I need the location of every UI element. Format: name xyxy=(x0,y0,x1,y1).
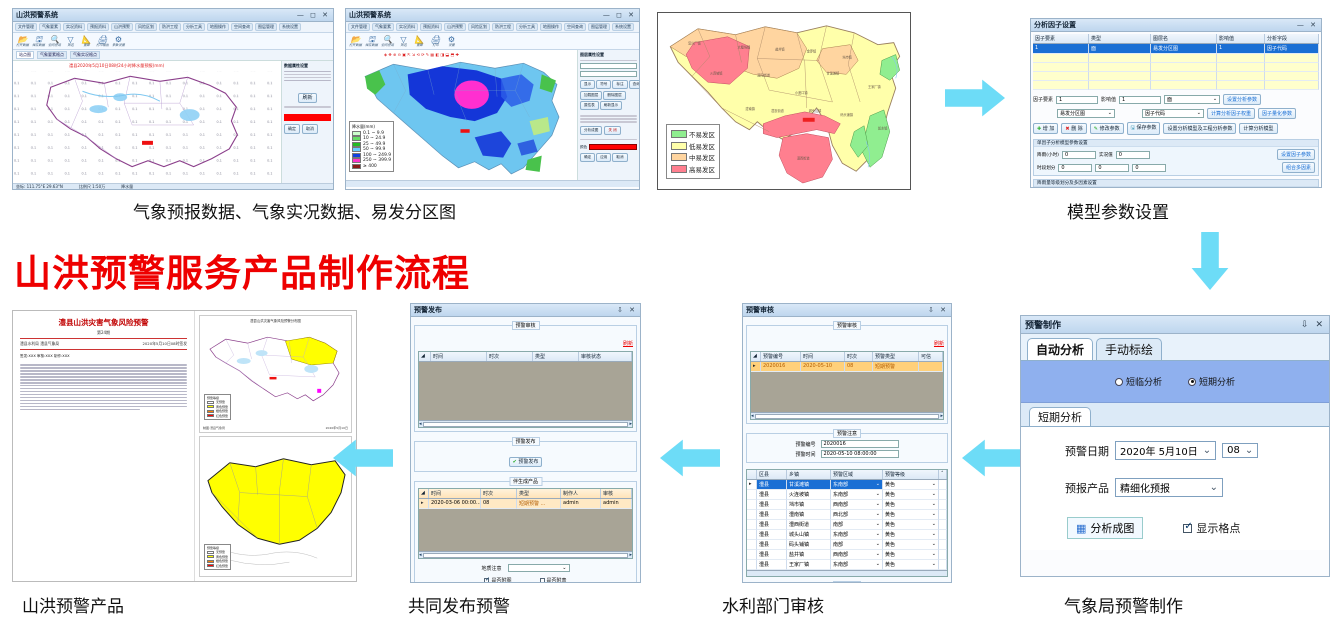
publish-grid-header: ◢ 时间 时次 类型 审核状态 xyxy=(419,352,632,362)
svg-text:甘溪滩镇: 甘溪滩镇 xyxy=(827,70,840,75)
label-factor: 因子要素 xyxy=(1033,96,1053,103)
panel-make-warning[interactable]: 预警制作 ⇩ ✕ 自动分析 手动标绘 短临分析 短期分析 短期分析 预警日期 2… xyxy=(1020,315,1330,577)
ok-button[interactable]: 确定 xyxy=(580,153,595,162)
chevron-down-icon: ⌄ xyxy=(876,521,880,528)
menu-item[interactable]: 风险区划 xyxy=(135,23,157,31)
cell-area[interactable]: 东南部⌄ xyxy=(831,560,883,570)
menu-item[interactable]: 文件管理 xyxy=(15,23,37,31)
chevron-down-icon: ⌄ xyxy=(932,541,936,548)
legend-item: 250 ~ 399.9 xyxy=(352,158,391,163)
tab-element-grid[interactable]: 气象要素格点 xyxy=(37,51,67,59)
rain-window-titlebar: 山洪预警系统 — ◻ ✕ xyxy=(346,9,639,22)
menu-item[interactable]: 分析工具 xyxy=(516,23,538,31)
menu-item[interactable]: 山洪预警 xyxy=(111,23,133,31)
cell-town: 盐井镇 xyxy=(787,550,831,560)
check-icon: ✔ xyxy=(513,459,517,465)
select-note[interactable]: ⌄ xyxy=(508,564,570,572)
row-selector[interactable]: ◢ xyxy=(751,352,761,361)
print-icon[interactable]: 🖨打印 xyxy=(429,35,442,47)
cell-county: 澧县 xyxy=(757,480,787,490)
zoning-legend: 不易发区 低易发区 中易发区 高易发区 xyxy=(666,124,720,180)
horizontal-scrollbar[interactable]: ◂ ▸ xyxy=(419,420,632,427)
arrow-to-review xyxy=(962,438,1022,478)
cell-area[interactable]: 东南部⌄ xyxy=(831,490,883,500)
svg-text:小渡口镇: 小渡口镇 xyxy=(795,90,808,95)
minus-icon: ✖ xyxy=(1065,126,1069,132)
chevron-down-icon: ⌄ xyxy=(876,481,880,488)
row-marker xyxy=(747,540,757,550)
settings-icon[interactable]: ⚙参数设置 xyxy=(112,35,125,47)
legend-item: 黄色预警 xyxy=(207,405,228,409)
input-warn-date[interactable]: 2020年 5月10日 ⌄ xyxy=(1115,441,1216,460)
svg-text:盐井镇: 盐井镇 xyxy=(775,47,785,52)
chevron-down-icon: ⌄ xyxy=(1203,445,1211,456)
chevron-down-icon: ⌄ xyxy=(932,521,936,528)
doc-meta-left: 澧县水利局 澧县气象局 xyxy=(20,341,59,347)
legend-item: 50 ~ 99.9 xyxy=(352,147,391,152)
cell-level[interactable]: 黄色⌄ xyxy=(883,490,939,500)
input-aux[interactable]: 0 xyxy=(1095,164,1129,172)
params-window-title: 分析因子设置 xyxy=(1034,20,1076,30)
spatial-query-icon[interactable]: 🔍空间查询 xyxy=(381,35,394,47)
panel-water-review[interactable]: 预警审核 ⇩ ✕ 预警审核 刷新 ◢ 预警编号 时间 时次 预警类型 可信 ▸ … xyxy=(742,303,952,583)
input-time-no[interactable]: 0 xyxy=(1058,164,1092,172)
save-params-button[interactable]: 🖫 保存参数 xyxy=(1127,122,1161,135)
review-titlebar: 预警审核 ⇩ ✕ xyxy=(743,304,951,317)
analyze-map-button[interactable]: ▦ 分析成图 xyxy=(1067,517,1143,539)
cell-time: 2020-03-06 00:00... xyxy=(429,499,481,509)
cell-county: 澧县 xyxy=(757,520,787,530)
rain-menubar[interactable]: 文件管理 气象要素 实况资料 预报资料 山洪预警 风险区划 防洪工程 分析工具 … xyxy=(346,22,639,33)
menu-item[interactable]: 系统设置 xyxy=(612,23,634,31)
cell-level[interactable]: 黄色⌄ xyxy=(883,520,939,530)
cell-level[interactable]: 黄色⌄ xyxy=(883,510,939,520)
cell-warn-id: 2020016 xyxy=(761,362,801,372)
menu-item[interactable]: 防洪工程 xyxy=(492,23,514,31)
cell-area[interactable]: 东南部⌄ xyxy=(831,480,883,490)
cell-area[interactable]: 西南部⌄ xyxy=(831,550,883,560)
col-town: 乡镇 xyxy=(787,470,831,479)
rainfall-map[interactable]: ◈ ✥ ⊕ ⊖ ▣ ⇱ ⇲ ⟲ ⟳ ✎ ▦ ◧ ◨ ⬓ ⬒ ✚ xyxy=(346,50,577,180)
row-marker: ▸ xyxy=(747,480,757,490)
row-spacer xyxy=(939,500,947,510)
table-row[interactable]: 澧县火连坡镇东南部⌄黄色⌄ xyxy=(747,490,947,500)
rainfall-legend: 降水量(mm) 0.1 ~ 9.9 10 ~ 24.9 25 ~ 49.9 50… xyxy=(349,121,394,173)
subtab-short-term[interactable]: 短期分析 xyxy=(1029,407,1091,426)
menu-item[interactable]: 气象要素 xyxy=(372,23,394,31)
cell-effect: 1 xyxy=(1217,44,1265,54)
modify-params-button[interactable]: ✎ 修改参数 xyxy=(1090,123,1124,134)
analyze-button[interactable]: 分析成图 xyxy=(580,126,602,135)
set-model-button[interactable]: 设置分析模型及工程分析参数 xyxy=(1163,123,1236,134)
side-button[interactable]: 删除图层 xyxy=(603,91,625,100)
input-warn-id[interactable]: 2020016 xyxy=(821,440,899,448)
label-forecast-product: 预报产品 xyxy=(1065,480,1109,496)
plus-icon: ✚ xyxy=(1037,126,1041,132)
radio-short-imminent[interactable]: 短临分析 xyxy=(1115,375,1162,388)
input-effect[interactable]: 1 xyxy=(1119,96,1161,104)
scroll-up-arrow[interactable]: ˄ xyxy=(939,470,947,479)
table-row[interactable] xyxy=(1033,72,1319,81)
rain-window-title: 山洪预警系统 xyxy=(349,10,391,20)
col-time: 时间 xyxy=(429,489,481,498)
product-map-lower[interactable]: 预警等级 无预警 黄色预警 橙色预警 红色预警 xyxy=(199,436,352,577)
chevron-down-icon: ⌄ xyxy=(876,501,880,508)
open-data-icon[interactable]: 📂打开数据 xyxy=(349,35,362,47)
window-controls[interactable]: — ✕ xyxy=(1297,21,1318,29)
refresh-link[interactable]: 刷新 xyxy=(934,341,944,347)
menu-item[interactable]: 地图操作 xyxy=(540,23,562,31)
rain-statusbar xyxy=(346,180,639,187)
legend-title: 预警等级 xyxy=(207,546,228,550)
menu-item[interactable]: 山洪预警 xyxy=(444,23,466,31)
makewarn-window-title: 预警制作 xyxy=(1025,318,1061,331)
color-swatch[interactable] xyxy=(284,114,331,121)
cell-area[interactable]: 西北部⌄ xyxy=(831,510,883,520)
col-warn-id: 预警编号 xyxy=(761,352,801,361)
cell-author: admin xyxy=(561,499,601,509)
col-level: 预警等级 xyxy=(883,470,939,479)
menu-item[interactable]: 空间查询 xyxy=(231,23,253,31)
cell-factor: 1 xyxy=(1033,44,1089,54)
cell-county: 澧县 xyxy=(757,550,787,560)
legend-item: 橙色预警 xyxy=(207,409,228,413)
legend-item: 0.1 ~ 9.9 xyxy=(352,131,391,136)
table-row[interactable]: 澧县澧西街道南部⌄黄色⌄ xyxy=(747,520,947,530)
radio-short-term[interactable]: 短期分析 xyxy=(1188,375,1235,388)
cancel-button[interactable]: 取消 xyxy=(612,153,627,162)
checkbox-attach-map[interactable]: 是否附图 xyxy=(484,577,511,583)
table-row[interactable] xyxy=(1033,63,1319,72)
col-review: 审核 xyxy=(601,489,632,498)
menu-item[interactable]: 图层管理 xyxy=(588,23,610,31)
input-actual[interactable]: 0 xyxy=(1116,151,1150,159)
measure-icon[interactable]: 📐量算 xyxy=(413,35,426,47)
layer-select-a[interactable] xyxy=(580,63,637,69)
pin-icon: ⇩ xyxy=(1301,320,1311,330)
save-data-icon[interactable]: 🖫保存数据 xyxy=(365,35,378,47)
row-selector[interactable]: ◢ xyxy=(419,352,431,361)
print-icon[interactable]: 🖨打印输出 xyxy=(96,35,109,47)
township-rows[interactable]: ▸澧县甘溪滩镇东南部⌄黄色⌄澧县火连坡镇东南部⌄黄色⌄澧县垱市镇西南部⌄黄色⌄澧… xyxy=(747,480,947,570)
chevron-down-icon: ⌄ xyxy=(876,541,880,548)
legend-item: 100 ~ 249.9 xyxy=(352,153,391,158)
cell-area[interactable]: 西南部⌄ xyxy=(831,500,883,510)
col-hour: 时次 xyxy=(481,489,517,498)
cell-level[interactable]: 黄色⌄ xyxy=(883,540,939,550)
table-row[interactable]: 澧县澧南镇西北部⌄黄色⌄ xyxy=(747,510,947,520)
close-icon: ✕ xyxy=(629,306,637,314)
panel-zoning-map[interactable]: 复兴厂镇大堰垱镇 盐井镇金罗镇 垱市镇火连坡镇 澧阳街道甘溪滩镇 王家厂镇小渡口… xyxy=(657,12,911,190)
cell-area[interactable]: 南部⌄ xyxy=(831,520,883,530)
chevron-down-icon: ⌄ xyxy=(876,551,880,558)
cell-type: 面 xyxy=(1089,44,1151,54)
close-icon: ✕ xyxy=(940,306,948,314)
col-time: 时间 xyxy=(431,352,487,361)
svg-text:垱市镇: 垱市镇 xyxy=(842,54,852,59)
legend-item: 低易发区 xyxy=(671,141,715,151)
close-icon: ✕ xyxy=(1315,320,1325,330)
row-selector[interactable]: ◢ xyxy=(419,489,429,498)
table-row[interactable]: 1 面 易发分区图 1 因子代码 xyxy=(1033,44,1319,54)
col-county: 区县 xyxy=(757,470,787,479)
calc-weight-button[interactable]: 计算分析因子权重 xyxy=(1207,108,1255,119)
set-analysis-params-button[interactable]: 设置分析参数 xyxy=(1223,94,1261,105)
products-grid-body[interactable] xyxy=(419,509,632,551)
cell-time: 2020-05-10 xyxy=(801,362,845,372)
input-factor[interactable]: 1 xyxy=(1056,96,1098,104)
product-map-title: 澧县山洪灾害气象风险预警分布图 xyxy=(200,318,351,323)
close-button[interactable]: 关 闭 xyxy=(604,126,620,135)
tab-manual-plot[interactable]: 手动标绘 xyxy=(1096,338,1162,360)
calc-model-button[interactable]: 计算分析模型 xyxy=(1239,123,1277,134)
table-row[interactable]: ▸澧县甘溪滩镇东南部⌄黄色⌄ xyxy=(747,480,947,490)
combine-factors-button[interactable]: 组合多因素 xyxy=(1282,162,1315,173)
input-rain-no[interactable]: 0 xyxy=(1062,151,1096,159)
input-warn-time[interactable]: 2020-05-10 08:00:00 xyxy=(821,450,899,458)
svg-text:澧西街道: 澧西街道 xyxy=(797,155,810,160)
select-warn-hour[interactable]: 08 ⌄ xyxy=(1222,443,1258,458)
edit-icon: ✎ xyxy=(1094,126,1098,132)
side-btn-a[interactable]: 确定 xyxy=(284,124,300,134)
select-type[interactable]: 面⌄ xyxy=(1164,95,1220,104)
makewarn-titlebar: 预警制作 ⇩ ✕ xyxy=(1021,316,1329,334)
select-field[interactable]: 因子代码⌄ xyxy=(1142,109,1204,118)
table-row[interactable]: ▸ 2020-03-06 00:00... 08 短期预警 ... admin … xyxy=(419,499,632,509)
cell-area[interactable]: 南部⌄ xyxy=(831,540,883,550)
table-row[interactable]: 澧县王家厂镇东南部⌄黄色⌄ xyxy=(747,560,947,570)
pin-icon: ⇩ xyxy=(928,306,936,314)
review-window-title: 预警审核 xyxy=(746,305,774,315)
forecast-menubar[interactable]: 文件管理 气象要素 实况资料 预报资料 山洪预警 风险区划 防洪工程 分析工具 … xyxy=(13,22,333,33)
menu-item[interactable]: 文件管理 xyxy=(348,23,370,31)
publish-grid-body[interactable] xyxy=(419,362,632,420)
doc-note: 签发:XXX 审核:XXX 制作:XXX xyxy=(20,354,187,359)
col-hour: 时次 xyxy=(845,352,873,361)
cell-level[interactable]: 黄色⌄ xyxy=(883,560,939,570)
chevron-down-icon: ⌄ xyxy=(932,501,936,508)
section-review-title: 预警审核 xyxy=(511,321,539,330)
chevron-down-icon: ⌄ xyxy=(932,531,936,538)
measure-icon[interactable]: 📐量算 xyxy=(80,35,93,47)
menu-item[interactable]: 系统设置 xyxy=(279,23,301,31)
refresh-button[interactable]: 刷新 xyxy=(298,93,316,103)
publish-warning-button[interactable]: ✔ 预警发布 xyxy=(509,457,543,467)
svg-text:大堰垱镇: 大堰垱镇 xyxy=(738,45,751,50)
row-marker xyxy=(747,510,757,520)
group-tab[interactable]: 符号 xyxy=(596,80,611,89)
caption-bottom-product: 山洪预警产品 xyxy=(22,592,124,617)
grid-icon: ▦ xyxy=(1076,522,1086,535)
row-marker xyxy=(747,490,757,500)
panel-warning-product[interactable]: 澧县山洪灾害气象风险预警 第24期 澧县水利局 澧县气象局 2020年5月10日… xyxy=(12,310,357,582)
filter-icon[interactable]: ▽筛选 xyxy=(397,35,410,47)
cell-layer: 易发分区图 xyxy=(1151,44,1217,54)
open-data-icon[interactable]: 📂打开数据 xyxy=(16,35,29,47)
table-row[interactable]: 澧县城头山镇东南部⌄黄色⌄ xyxy=(747,530,947,540)
horizontal-scrollbar[interactable]: ◂ ▸ xyxy=(751,412,943,419)
status-layer: 降水量 xyxy=(121,184,133,190)
cell-type: 短期预警 xyxy=(873,362,919,372)
cell-town: 码头铺镇 xyxy=(787,540,831,550)
caption-top-right: 模型参数设置 xyxy=(1067,198,1169,223)
menu-item[interactable]: 气象要素 xyxy=(39,23,61,31)
tab-station[interactable]: 站点图 xyxy=(16,51,34,59)
col-factor: 因子要素 xyxy=(1033,34,1089,43)
row-spacer xyxy=(939,530,947,540)
doc-meta-right: 2020年5月10日08时签发 xyxy=(142,341,187,347)
label-warn-time: 预警时间 xyxy=(795,451,815,458)
svg-text:城头山镇: 城头山镇 xyxy=(809,108,822,113)
settings-icon[interactable]: ⚙设置 xyxy=(445,35,458,47)
svg-text:复兴厂镇: 复兴厂镇 xyxy=(688,41,701,46)
cell-type: 短期预警 ... xyxy=(517,499,561,509)
layer-panel-title: 图层属性设置 xyxy=(580,52,637,58)
select-forecast-product[interactable]: 精细化预报 ⌄ xyxy=(1115,478,1223,497)
legend-item: 红色预警 xyxy=(207,414,228,418)
row-spacer xyxy=(939,490,947,500)
add-button[interactable]: ✚ 增 加 xyxy=(1033,123,1058,134)
panel-forecast-data[interactable]: 山洪预警系统 — ◻ ✕ 文件管理 气象要素 实况资料 预报资料 山洪预警 风险… xyxy=(12,8,334,190)
factor-quant-params-button[interactable]: 因子量化参数 xyxy=(1258,108,1296,119)
legend-item: 不易发区 xyxy=(671,129,715,139)
township-scrollbar[interactable] xyxy=(747,570,947,576)
svg-text:金罗镇: 金罗镇 xyxy=(807,49,817,54)
col-credible: 可信 xyxy=(919,352,943,361)
filter-icon[interactable]: ▽筛选 xyxy=(64,35,77,47)
table-row[interactable] xyxy=(1033,54,1319,63)
side-button[interactable]: 属性表 xyxy=(580,101,599,110)
table-row[interactable]: 澧县码头铺镇南部⌄黄色⌄ xyxy=(747,540,947,550)
chevron-down-icon: ⌄ xyxy=(932,511,936,518)
review-grid-body[interactable] xyxy=(751,372,943,412)
cell-area[interactable]: 东南部⌄ xyxy=(831,530,883,540)
cell-level[interactable]: 黄色⌄ xyxy=(883,480,939,490)
params-titlebar: 分析因子设置 — ✕ xyxy=(1031,19,1321,32)
checkbox-show-grid[interactable]: ✓ 显示格点 xyxy=(1183,520,1240,536)
input-aux2[interactable]: 0 xyxy=(1132,164,1166,172)
status-coord: 坐标: 111.75°E 29.63°N xyxy=(16,184,63,190)
menu-item[interactable]: 预报资料 xyxy=(420,23,442,31)
row-spacer xyxy=(939,480,947,490)
side-btn-b[interactable]: 取消 xyxy=(302,124,318,134)
arrow-to-publish xyxy=(660,438,720,478)
svg-text:澧澹街道: 澧澹街道 xyxy=(771,108,784,113)
forecast-grid-map[interactable]: 澧县2020年5月10日08时24小时降水量预报(mm) 0.1 xyxy=(13,61,281,183)
forecast-toolbar[interactable]: 📂打开数据 🖫保存数据 🔍空间查询 ▽筛选 📐量算 🖨打印输出 ⚙参数设置 xyxy=(13,33,333,50)
caption-bottom-publish: 共同发布预警 xyxy=(408,592,510,617)
delete-button[interactable]: ✖ 删 除 xyxy=(1061,123,1086,134)
color-label: 颜色 xyxy=(580,145,587,150)
menu-item[interactable]: 图层管理 xyxy=(255,23,277,31)
chevron-down-icon: ⌄ xyxy=(932,551,936,558)
forecast-window-title: 山洪预警系统 xyxy=(16,10,58,20)
chevron-down-icon: ⌄ xyxy=(876,531,880,538)
window-controls[interactable]: — ◻ ✕ xyxy=(297,11,330,19)
menu-item[interactable]: 实况资料 xyxy=(63,23,85,31)
section-detail-title: 预警注意 xyxy=(833,429,861,438)
menu-item[interactable]: 防洪工程 xyxy=(159,23,181,31)
set-factor-params-button[interactable]: 设置因子参数 xyxy=(1277,149,1315,160)
row-marker xyxy=(747,550,757,560)
panel-rainfall-map[interactable]: 山洪预警系统 — ◻ ✕ 文件管理 气象要素 实况资料 预报资料 山洪预警 风险… xyxy=(345,8,640,190)
rain-toolbar[interactable]: 📂打开数据 🖫保存数据 🔍空间查询 ▽筛选 📐量算 🖨打印 ⚙设置 xyxy=(346,33,639,50)
color-swatch[interactable] xyxy=(589,144,637,150)
cell-hour: 08 xyxy=(481,499,517,509)
table-row[interactable]: 澧县盐井镇西南部⌄黄色⌄ xyxy=(747,550,947,560)
menu-item[interactable]: 风险区划 xyxy=(468,23,490,31)
menu-item[interactable]: 实况资料 xyxy=(396,23,418,31)
table-row[interactable]: ▸ 2020016 2020-05-10 08 短期预警 xyxy=(751,362,943,372)
cell-review: admin xyxy=(601,499,632,509)
chevron-down-icon: ⌄ xyxy=(876,491,880,498)
table-row[interactable]: 澧县垱市镇西南部⌄黄色⌄ xyxy=(747,500,947,510)
svg-text:澧南镇: 澧南镇 xyxy=(745,106,755,111)
side-button[interactable]: 刷新显示 xyxy=(600,101,622,110)
apply-button[interactable]: 应用 xyxy=(596,153,611,162)
chevron-down-icon: ⌄ xyxy=(1108,110,1112,117)
legend-item: 高易发区 xyxy=(671,164,715,174)
label-actual: 实况值 xyxy=(1099,152,1113,158)
label-warn-id: 预警编号 xyxy=(795,441,815,448)
chevron-down-icon: ⌄ xyxy=(1245,445,1253,456)
menu-item[interactable]: 分析工具 xyxy=(183,23,205,31)
chevron-down-icon: ⌄ xyxy=(1210,482,1218,493)
select-layer[interactable]: 易发分区图⌄ xyxy=(1057,109,1115,118)
layer-select-b[interactable] xyxy=(580,71,637,77)
cell-level[interactable]: 黄色⌄ xyxy=(883,500,939,510)
side-panel-title: 数据属性设置 xyxy=(284,63,331,69)
arrow-to-make-warning xyxy=(1190,232,1230,290)
svg-text:澧阳街道: 澧阳街道 xyxy=(757,72,770,77)
cell-level[interactable]: 黄色⌄ xyxy=(883,550,939,560)
product-legend-upper: 预警等级 无预警 黄色预警 橙色预警 红色预警 xyxy=(204,394,231,421)
spatial-query-icon[interactable]: 🔍空间查询 xyxy=(48,35,61,47)
panel-model-params[interactable]: 分析因子设置 — ✕ 因子要素 类型 图层名 影响值 分析字段 1 面 易发分区… xyxy=(1030,18,1322,188)
section-single-factor-title: 单因子分析模型参数设置 xyxy=(1034,140,1318,147)
tab-observed-grid[interactable]: 气象实况格点 xyxy=(70,51,100,59)
tab-auto-analysis[interactable]: 自动分析 xyxy=(1027,338,1093,360)
legend-title: 预警等级 xyxy=(207,396,228,400)
col-status: 审核状态 xyxy=(579,352,632,361)
refresh-link[interactable]: 刷新 xyxy=(623,341,633,347)
save-data-icon[interactable]: 🖫保存数据 xyxy=(32,35,45,47)
group-tab[interactable]: 标注 xyxy=(612,80,627,89)
chevron-down-icon: ⌄ xyxy=(562,565,566,571)
product-legend-lower: 预警等级 无预警 黄色预警 橙色预警 红色预警 xyxy=(204,544,231,571)
horizontal-scrollbar[interactable]: ◂ ▸ xyxy=(419,551,632,558)
product-map-upper[interactable]: 澧县山洪灾害气象风险预警分布图 预警等级 无预警 黄色预警 橙色预警 红色预警 … xyxy=(199,315,352,433)
group-tab[interactable]: 显示 xyxy=(580,80,595,89)
menu-item[interactable]: 地图操作 xyxy=(207,23,229,31)
svg-text:码头铺镇: 码头铺镇 xyxy=(840,112,853,117)
window-controls[interactable]: — ◻ ✕ xyxy=(603,11,636,19)
menu-item[interactable]: 预报资料 xyxy=(87,23,109,31)
caption-bottom-make: 气象局预警制作 xyxy=(1064,592,1183,617)
checkbox-attach-table[interactable]: 是否附表 xyxy=(540,577,567,583)
section-rain-levels-title: 降雨量等级划分及多因素设置 xyxy=(1034,180,1318,187)
menu-item[interactable]: 空间查询 xyxy=(564,23,586,31)
row-spacer xyxy=(939,520,947,530)
section-products-title: 伴生成产品 xyxy=(509,477,542,486)
cell-level[interactable]: 黄色⌄ xyxy=(883,530,939,540)
section-review-title: 预警审核 xyxy=(833,321,861,330)
table-row[interactable] xyxy=(1033,81,1319,90)
panel-publish-warning[interactable]: 预警发布 ⇩ ✕ 预警审核 刷新 ◢ 时间 时次 类型 审核状态 ◂ ▸ xyxy=(410,303,641,583)
row-spacer xyxy=(939,510,947,520)
side-button[interactable]: 加载图层 xyxy=(580,91,602,100)
group-tab[interactable]: 查询 xyxy=(629,80,640,89)
